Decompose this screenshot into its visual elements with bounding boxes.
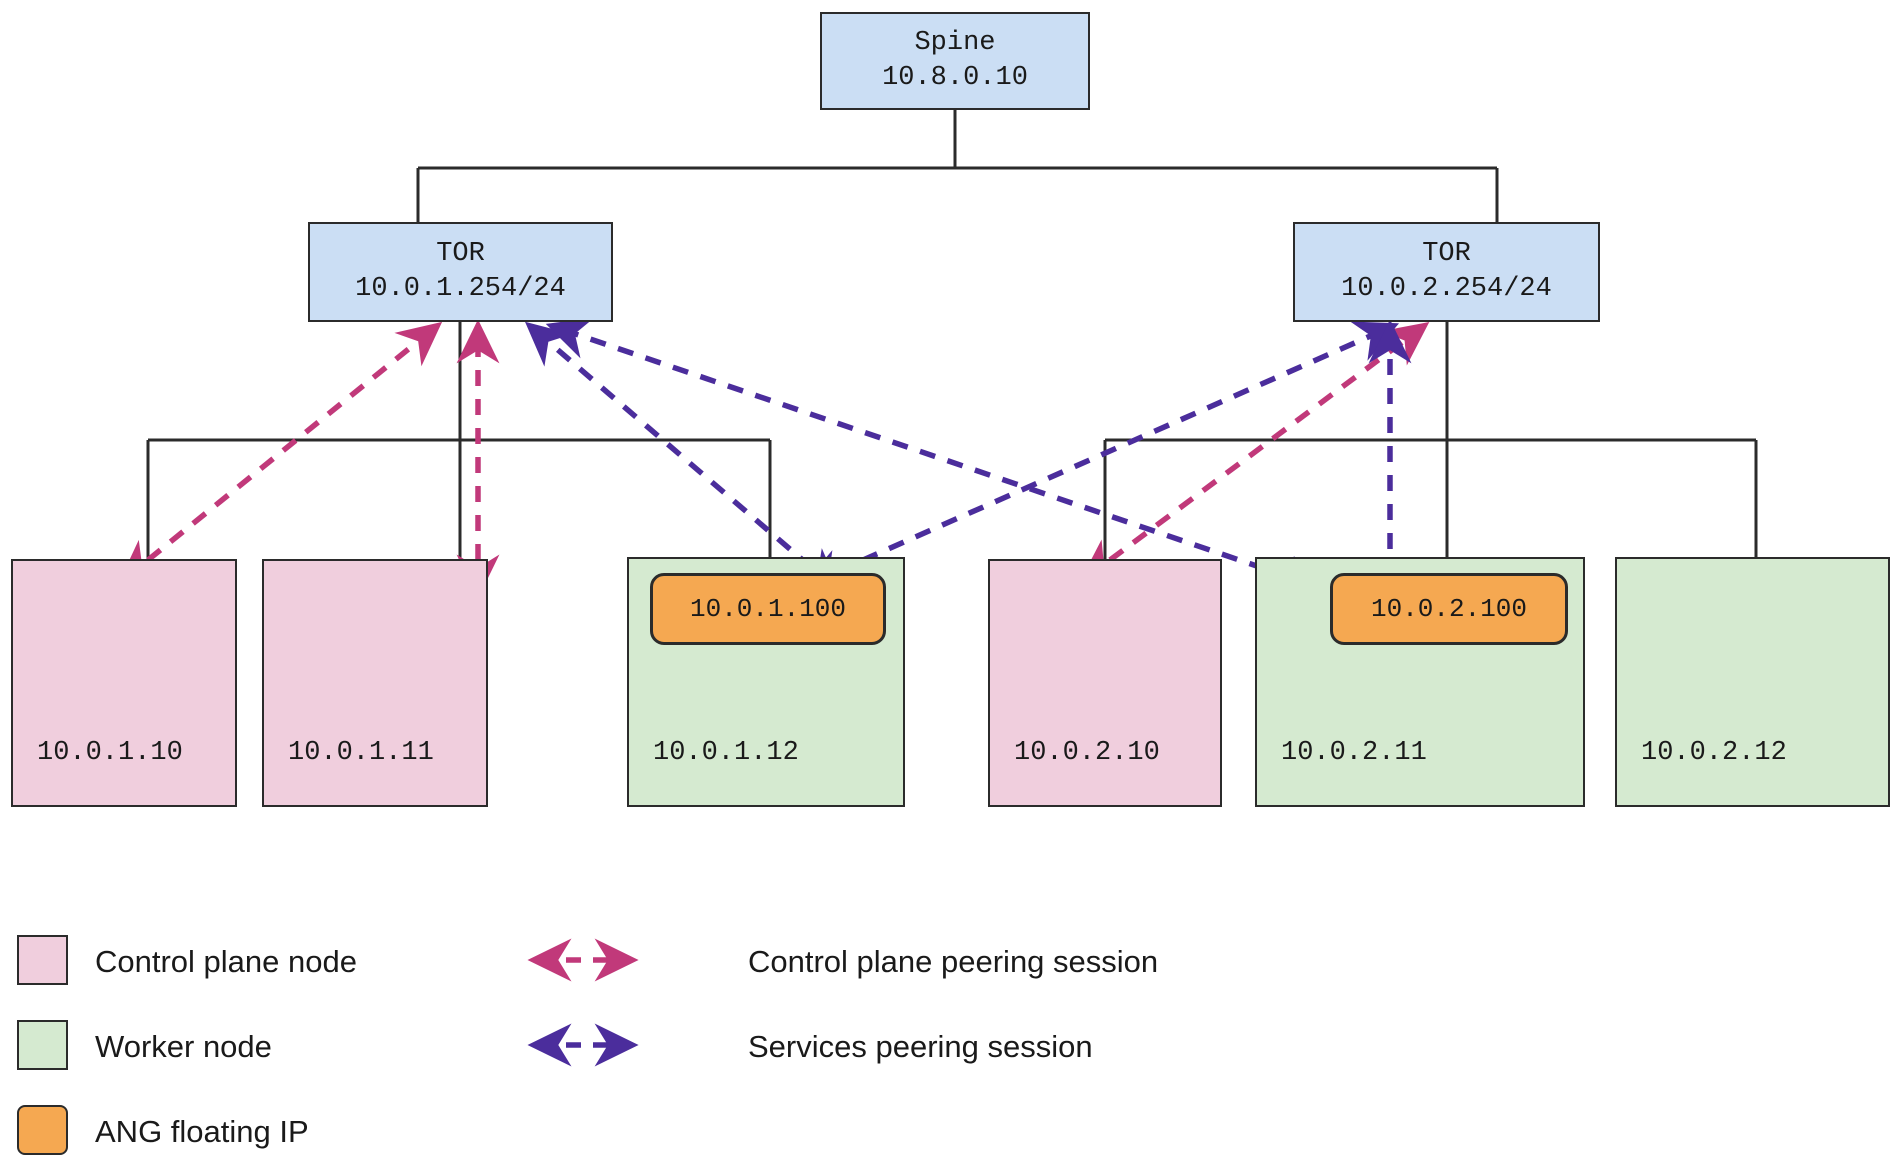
legend-label-control-plane-peering-session: Control plane peering session xyxy=(748,944,1158,980)
services-peering-edges xyxy=(530,326,1393,578)
legend-label-ang-floating-ip: ANG floating IP xyxy=(95,1114,309,1150)
spine-switch[interactable]: Spine 10.8.0.10 xyxy=(820,12,1090,110)
node-10-0-2-10[interactable]: 10.0.2.10 xyxy=(988,559,1222,807)
control-plane-peering-edges xyxy=(148,326,1424,560)
tor-switch-rack2[interactable]: TOR 10.0.2.254/24 xyxy=(1293,222,1600,322)
legend-swatch-control-plane-node xyxy=(17,935,68,985)
structural-links xyxy=(148,110,1756,559)
node-10-0-2-12[interactable]: 10.0.2.12 xyxy=(1615,557,1890,807)
legend-swatch-ang-floating-ip xyxy=(17,1105,68,1155)
legend-swatch-worker-node xyxy=(17,1020,68,1070)
legend-label-services-peering-session: Services peering session xyxy=(748,1029,1093,1065)
legend-label-worker-node: Worker node xyxy=(95,1029,272,1065)
floating-ip-10-0-2-100[interactable]: 10.0.2.100 xyxy=(1330,573,1568,645)
floating-ip-10-0-1-100[interactable]: 10.0.1.100 xyxy=(650,573,886,645)
tor-switch-rack1[interactable]: TOR 10.0.1.254/24 xyxy=(308,222,613,322)
node-10-0-1-11[interactable]: 10.0.1.11 xyxy=(262,559,488,807)
node-10-0-1-10[interactable]: 10.0.1.10 xyxy=(11,559,237,807)
legend-label-control-plane-node: Control plane node xyxy=(95,944,357,980)
network-topology-diagram: Spine 10.8.0.10 TOR 10.0.1.254/24 TOR 10… xyxy=(0,0,1904,1172)
legend-line-samples xyxy=(566,960,632,1045)
